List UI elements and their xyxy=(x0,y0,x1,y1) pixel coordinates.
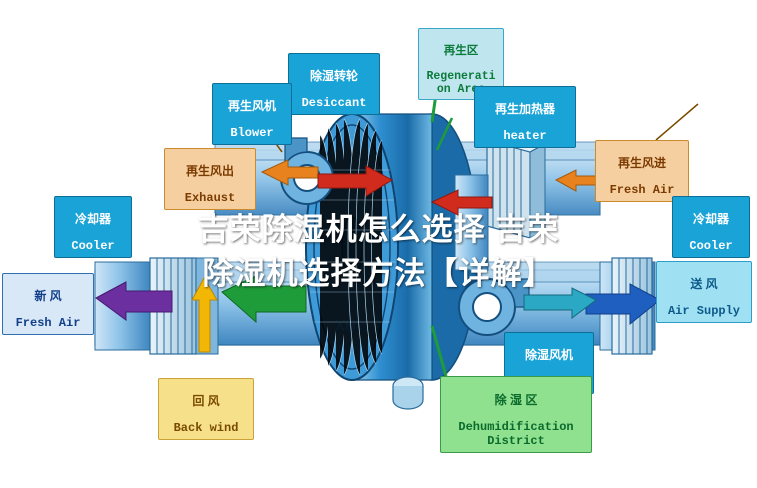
label-dehumidification-district: 除 湿 区 Dehumidification District xyxy=(440,376,592,453)
label-regeneration-heater: 再生加热器 heater xyxy=(474,86,576,148)
label-back-wind: 回 风 Back wind xyxy=(158,378,254,440)
label-fresh-air-regeneration-cn: 再生风进 xyxy=(598,157,686,170)
label-regeneration-heater-cn: 再生加热器 xyxy=(477,103,573,116)
rotor-support-wheel xyxy=(393,377,423,409)
label-exhaust-air-en: Exhaust xyxy=(185,191,235,205)
watermark: XH xyxy=(335,317,356,334)
label-regeneration-blower: 再生风机 Blower xyxy=(212,83,292,145)
label-exhaust-air: 再生风出 Exhaust xyxy=(164,148,256,210)
label-desiccant-wheel-cn: 除湿转轮 xyxy=(291,70,377,83)
label-fresh-air-regeneration-en: Fresh Air xyxy=(610,183,675,197)
label-regeneration-blower-cn: 再生风机 xyxy=(215,100,289,113)
label-regeneration-area-cn: 再生区 xyxy=(421,45,501,58)
diagram-canvas: XH 除湿转轮 Desiccant 再生区 Regenerati on Area… xyxy=(0,0,757,488)
svg-text:XH: XH xyxy=(335,317,356,334)
label-dehumidification-district-en: Dehumidification District xyxy=(458,420,573,447)
label-desiccant-wheel: 除湿转轮 Desiccant xyxy=(288,53,380,115)
label-fresh-air-inlet-en: Fresh Air xyxy=(16,316,81,330)
label-regeneration-blower-en: Blower xyxy=(230,126,273,140)
label-dehumidification-district-cn: 除 湿 区 xyxy=(443,394,589,407)
overlay-title-line1: 吉荣除湿机怎么选择 吉荣 xyxy=(0,208,757,252)
label-dehumidification-blower-cn: 除湿风机 xyxy=(507,349,591,362)
label-regeneration-heater-en: heater xyxy=(503,129,546,143)
label-desiccant-wheel-en: Desiccant xyxy=(302,96,367,110)
overlay-title-line2: 除湿机选择方法【详解】 xyxy=(0,252,757,296)
label-back-wind-cn: 回 风 xyxy=(161,395,251,408)
label-supply-air-en: Air Supply xyxy=(668,304,740,318)
label-exhaust-air-cn: 再生风出 xyxy=(167,165,253,178)
label-back-wind-en: Back wind xyxy=(174,421,239,435)
label-fresh-air-regeneration: 再生风进 Fresh Air xyxy=(595,140,689,202)
